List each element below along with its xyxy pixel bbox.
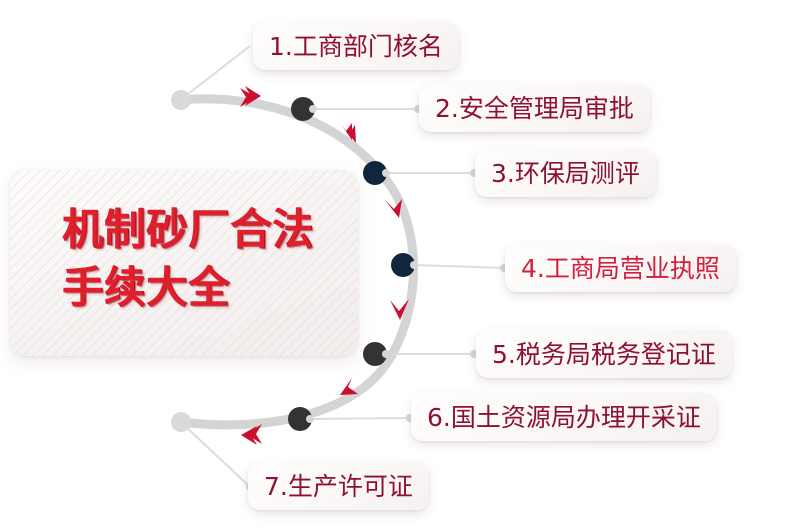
title-line-1: 机制砂厂合法 [62, 202, 352, 258]
chevron-arrow-6 [246, 424, 262, 444]
step-label-6[interactable]: 6.国土资源局办理开采证 [411, 393, 717, 441]
step-label-1[interactable]: 1.工商部门核名 [253, 22, 459, 70]
step-label-2-text: 2.安全管理局审批 [435, 96, 634, 121]
step-label-3-text: 3.环保局测评 [491, 161, 640, 186]
connector-cap-4-start [410, 261, 418, 269]
connector-cap-2-start [309, 105, 317, 113]
step-label-4-text: 4.工商局营业执照 [521, 256, 720, 281]
chevron-arrow-4 [390, 299, 409, 320]
step-label-1-text: 1.工商部门核名 [269, 34, 443, 59]
chevron-arrow-1 [240, 88, 256, 107]
infographic-canvas: 机制砂厂合法 手续大全 1.工商部门核名 2.安全管理局审批 3.环保局测评 4… [0, 0, 800, 530]
connector-cap-6-start [306, 415, 314, 423]
step-label-5-text: 5.税务局税务登记证 [492, 342, 716, 367]
step-label-2[interactable]: 2.安全管理局审批 [419, 84, 650, 132]
chevron-arrow-3 [385, 199, 402, 218]
connector-7 [184, 425, 250, 487]
connector-cap-3-start [382, 169, 390, 177]
connector-cap-5-start [382, 350, 390, 358]
connector-6 [310, 418, 411, 419]
node-dot-1[interactable] [171, 90, 191, 110]
step-label-3[interactable]: 3.环保局测评 [475, 149, 656, 197]
title-line-2: 手续大全 [62, 260, 352, 316]
chevron-arrow-2 [340, 123, 352, 140]
step-label-7[interactable]: 7.生产许可证 [248, 462, 429, 510]
connector-1 [184, 46, 250, 97]
main-title-panel: 机制砂厂合法 手续大全 [10, 170, 358, 356]
step-label-6-text: 6.国土资源局办理开采证 [427, 405, 701, 430]
chevron-arrow-5 [340, 378, 358, 395]
connector-4 [414, 265, 505, 268]
step-label-5[interactable]: 5.税务局税务登记证 [476, 330, 732, 378]
step-label-4[interactable]: 4.工商局营业执照 [505, 244, 736, 292]
step-label-7-text: 7.生产许可证 [264, 474, 413, 499]
node-dot-7[interactable] [171, 412, 191, 432]
